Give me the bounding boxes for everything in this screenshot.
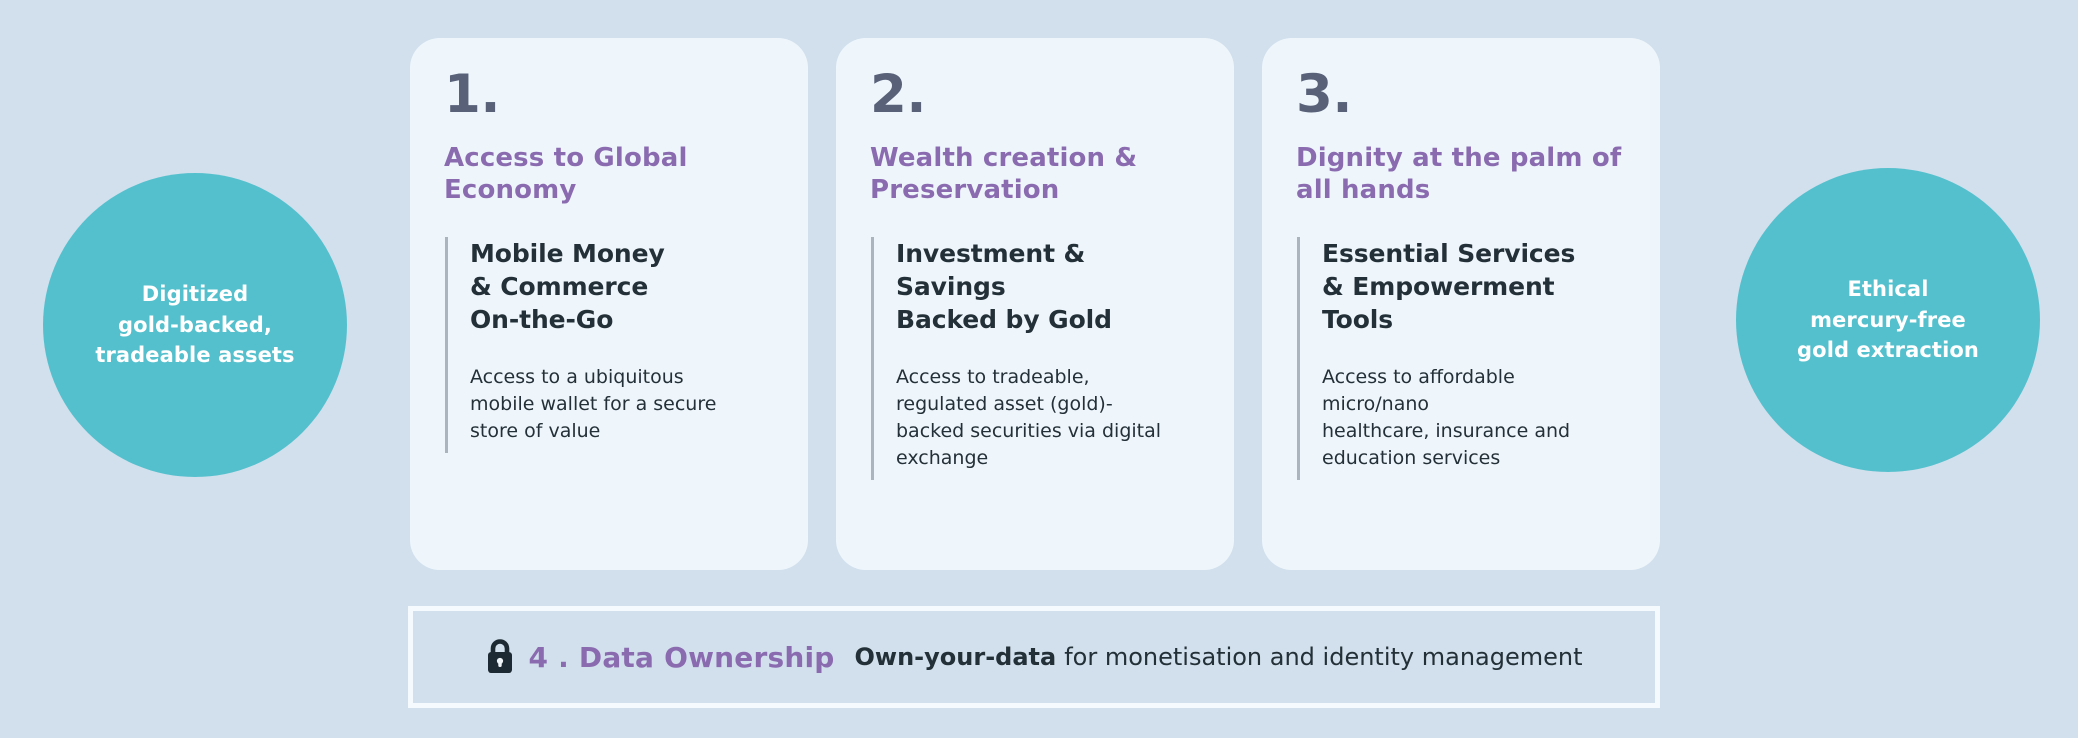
data-ownership-heading: 4 . Data Ownership <box>528 641 834 674</box>
circle-right-text: Ethical mercury-free gold extraction <box>1771 274 2005 365</box>
circle-left-text: Digitized gold-backed, tradeable assets <box>69 279 320 370</box>
card-1-body: Mobile Money & Commerce On-the-Go Access… <box>445 237 774 453</box>
card-2-body: Investment & Savings Backed by Gold Acce… <box>871 237 1200 480</box>
data-ownership-strong-text: Own-your-data <box>855 643 1057 671</box>
card-2-subtitle: Investment & Savings Backed by Gold <box>896 237 1200 336</box>
data-ownership-bar[interactable]: 4 . Data Ownership Own-your-data for mon… <box>408 606 1660 708</box>
card-3-title: Dignity at the palm of all hands <box>1296 143 1626 207</box>
card-2-description: Access to tradeable, regulated asset (go… <box>896 364 1200 472</box>
card-2-title: Wealth creation & Preservation <box>870 143 1200 207</box>
card-3-number: 3. <box>1296 68 1626 121</box>
data-ownership-rest-text: for monetisation and identity management <box>1064 643 1582 671</box>
infographic-canvas: Digitized gold-backed, tradeable assets … <box>0 0 2078 738</box>
data-ownership-content: 4 . Data Ownership Own-your-data for mon… <box>485 638 1582 676</box>
card-dignity-at-palm-of-all-hands[interactable]: 3. Dignity at the palm of all hands Esse… <box>1262 38 1660 570</box>
card-1-description: Access to a ubiquitous mobile wallet for… <box>470 364 774 445</box>
card-2-number: 2. <box>870 68 1200 121</box>
card-1-title: Access to Global Economy <box>444 143 774 207</box>
circle-digitized-assets: Digitized gold-backed, tradeable assets <box>43 173 347 477</box>
circle-ethical-extraction: Ethical mercury-free gold extraction <box>1736 168 2040 472</box>
card-3-subtitle: Essential Services & Empowerment Tools <box>1322 237 1626 336</box>
card-access-to-global-economy[interactable]: 1. Access to Global Economy Mobile Money… <box>410 38 808 570</box>
card-3-body: Essential Services & Empowerment Tools A… <box>1297 237 1626 480</box>
card-wealth-creation-preservation[interactable]: 2. Wealth creation & Preservation Invest… <box>836 38 1234 570</box>
card-3-description: Access to affordable micro/nano healthca… <box>1322 364 1626 472</box>
lock-icon <box>485 637 515 675</box>
card-1-subtitle: Mobile Money & Commerce On-the-Go <box>470 237 774 336</box>
card-1-number: 1. <box>444 68 774 121</box>
